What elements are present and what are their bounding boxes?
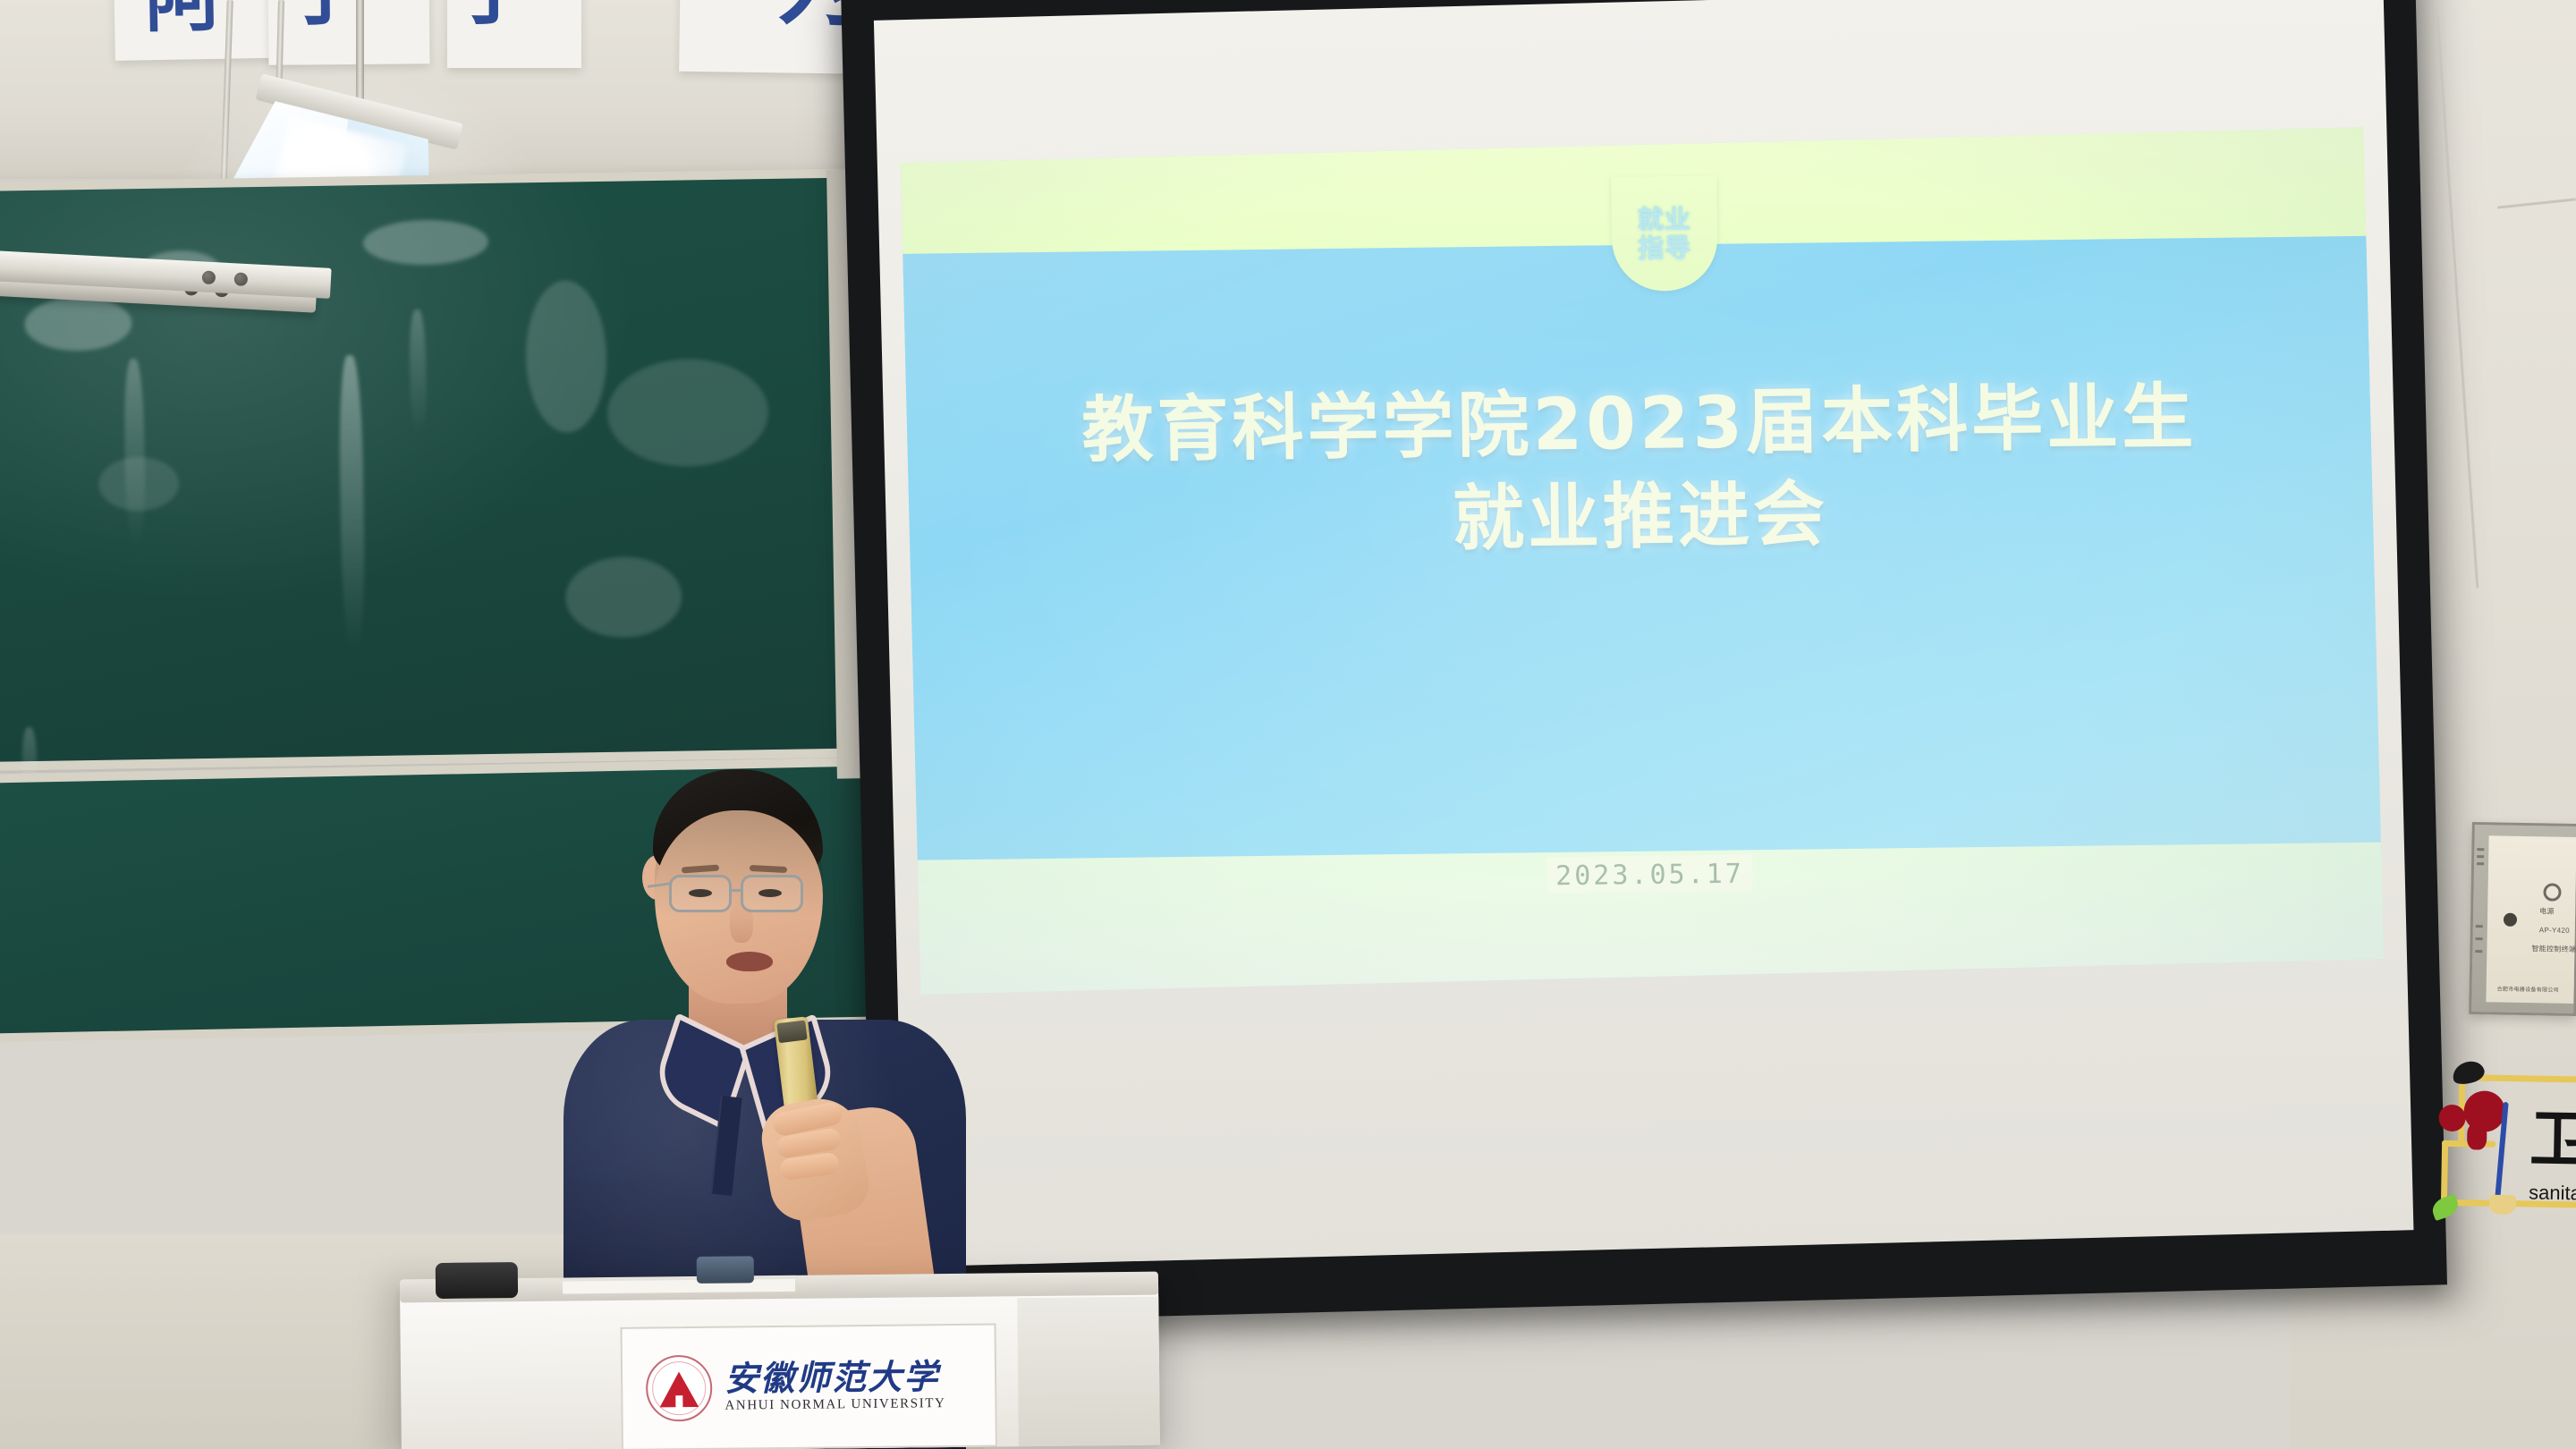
slide-title-line1: 教育科学学院2023届本科毕业生 <box>907 369 2371 479</box>
slide-badge-line1: 就业 <box>1638 204 1691 233</box>
sanitation-sign-char: 卫 <box>2529 1109 2576 1171</box>
slide-badge-line2: 指导 <box>1638 233 1691 263</box>
bird-icon <box>2450 1058 2487 1088</box>
panel-knob-icon[interactable] <box>2543 883 2561 901</box>
podium-blue-object[interactable] <box>697 1256 754 1284</box>
projection-screen-frame: 就业 指导 教育科学学院2023届本科毕业生 就业推进会 2023.05.17 <box>841 0 2447 1323</box>
glasses-bridge <box>732 889 742 892</box>
projected-slide: 就业 指导 教育科学学院2023届本科毕业生 就业推进会 2023.05.17 <box>901 127 2384 995</box>
podium-side-face <box>1017 1297 1160 1447</box>
slide-date-text: 2023.05.17 <box>1546 855 1753 894</box>
lectern-podium: 安徽师范大学 ANHUI NORMAL UNIVERSITY <box>400 1286 1160 1449</box>
banner-glyph-1: 阿 <box>144 0 222 33</box>
broom-head-icon <box>2489 1195 2516 1216</box>
university-name-en: ANHUI NORMAL UNIVERSITY <box>724 1396 945 1414</box>
slide-title-line2: 就业推进会 <box>909 462 2373 572</box>
flower-icon-stem <box>2467 1123 2487 1149</box>
speaker-mouth <box>726 952 773 971</box>
panel-label-top: 电源 <box>2539 906 2555 916</box>
electrical-panel-face: 电源 AP-Y420 智能控制终端 合肥市电器设备有限公司 <box>2486 835 2576 1004</box>
sanitation-sign-english: sanita <box>2529 1181 2576 1205</box>
classroom-photo-scene: 阿 宁 学 为 <box>0 0 2576 1449</box>
lamp-stem <box>356 0 364 106</box>
panel-label-bottom: 智能控制终端 <box>2531 944 2576 954</box>
panel-label-footer: 合肥市电器设备有限公司 <box>2497 984 2559 993</box>
university-seal-icon <box>646 1355 713 1422</box>
wall-banner-2: 宁 <box>268 0 430 65</box>
panel-indicator-dot <box>2504 913 2517 927</box>
slide-badge-tab: 就业 指导 <box>1611 176 1718 292</box>
podium-papers[interactable] <box>563 1279 795 1294</box>
microphone-grille <box>776 1020 807 1043</box>
wall-banner-3: 学 <box>447 0 581 68</box>
podium-dark-object[interactable] <box>436 1262 518 1299</box>
university-name-cn: 安徽师范大学 <box>724 1360 945 1396</box>
banner-glyph-3: 学 <box>451 0 537 25</box>
electrical-panel-box[interactable]: 电源 AP-Y420 智能控制终端 合肥市电器设备有限公司 <box>2469 822 2576 1016</box>
speaker-nose <box>730 903 753 943</box>
glasses-lens-left <box>669 875 732 912</box>
slide-title: 教育科学学院2023届本科毕业生 就业推进会 <box>907 369 2372 572</box>
podium-logo-panel: 安徽师范大学 ANHUI NORMAL UNIVERSITY <box>620 1323 996 1449</box>
leaf-icon <box>2429 1194 2462 1222</box>
panel-label-mid: AP-Y420 <box>2539 926 2570 935</box>
projection-screen-surface: 就业 指导 教育科学学院2023届本科毕业生 就业推进会 2023.05.17 <box>874 0 2414 1267</box>
banner-glyph-2: 宁 <box>284 0 367 26</box>
sanitation-sign: 卫 sanita <box>2413 1054 2576 1244</box>
